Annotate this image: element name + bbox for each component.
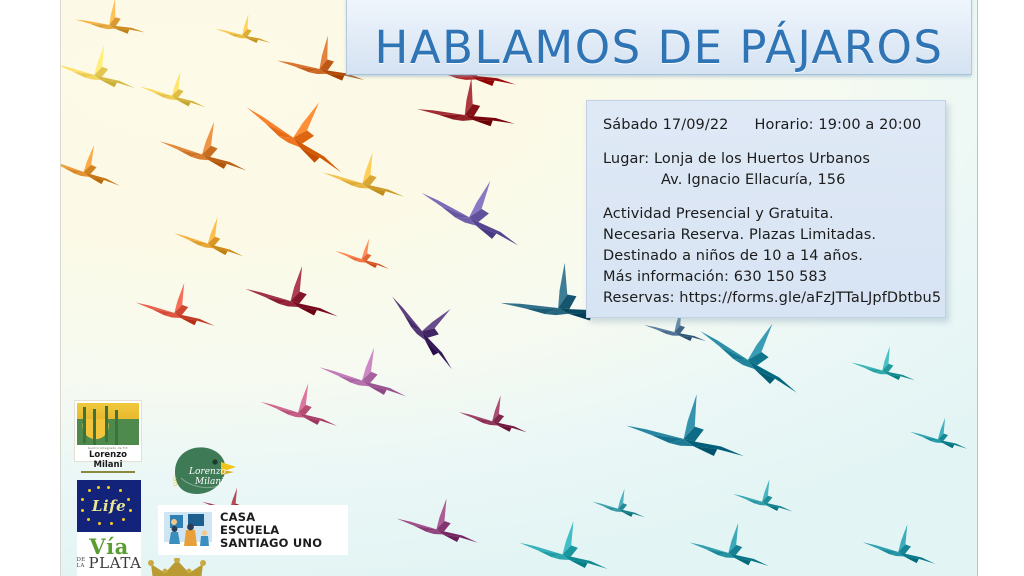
- bird-facet: [288, 138, 346, 173]
- bird-7: [158, 119, 246, 176]
- bird-facet: [413, 331, 461, 369]
- event-place: Lugar: Lonja de los Huertos Urbanos: [603, 149, 929, 170]
- bird-facet: [263, 124, 294, 140]
- bird-17: [375, 282, 476, 369]
- casa-line-2: ESCUELA: [220, 524, 322, 537]
- bird-16: [134, 280, 215, 334]
- bird-0: [73, 0, 146, 46]
- logo-lorenzo-milani-frame: Centro Integrado de F.P. Lorenzo Milani: [74, 400, 142, 462]
- bird-1: [214, 11, 271, 50]
- bird-facet: [440, 207, 470, 220]
- svg-text:Lorenzo: Lorenzo: [188, 467, 227, 477]
- de-la-text: DE LA: [76, 557, 85, 571]
- bird-facet: [500, 288, 558, 323]
- bird-facet: [242, 107, 297, 137]
- bird-facet: [526, 300, 559, 319]
- bird-20: [458, 393, 528, 439]
- spacer: [603, 191, 929, 204]
- event-info-box: Sábado 17/09/22 Horario: 19:00 a 20:00 L…: [586, 100, 946, 318]
- title-banner: HABLAMOS DE PÁJAROS: [346, 0, 972, 75]
- bird-2: [61, 42, 135, 96]
- bird-facet: [744, 360, 801, 393]
- event-detail-free: Actividad Presencial y Gratuita.: [603, 204, 929, 225]
- bird-3: [139, 69, 206, 113]
- bird-10: [413, 70, 515, 145]
- info-date-time-row: Sábado 17/09/22 Horario: 19:00 a 20:00: [603, 115, 929, 136]
- bird-19: [259, 381, 337, 432]
- event-time: Horario: 19:00 a 20:00: [755, 115, 922, 136]
- bird-facet: [384, 297, 429, 331]
- event-detail-reservation-link[interactable]: Reservas: https://forms.gle/aFzJTTaLJpfD…: [603, 288, 929, 309]
- eu-flag-box: Life: [77, 480, 141, 532]
- casa-line-1: CASA: [220, 511, 322, 524]
- event-address: Av. Ignacio Ellacuría, 156: [603, 170, 929, 191]
- bird-facet: [438, 108, 465, 123]
- logo-name: Lorenzo Milani: [77, 450, 139, 470]
- bird-8: [61, 144, 120, 190]
- bird-30: [688, 520, 769, 574]
- bird-facet: [75, 13, 109, 32]
- lorenzo-milani-artwork-icon: [77, 403, 139, 445]
- logo-underline: [81, 471, 135, 473]
- event-detail-phone: Más información: 630 150 583: [603, 267, 929, 288]
- logo-crown: [147, 558, 233, 576]
- bird-28: [591, 487, 645, 523]
- casa-escuela-people-icon: [162, 510, 214, 550]
- bird-23: [692, 311, 808, 392]
- event-detail-reservation: Necesaria Reserva. Plazas Limitadas.: [603, 225, 929, 246]
- crown-icon: [147, 558, 233, 576]
- bird-9: [237, 88, 354, 173]
- bird-facet: [400, 314, 426, 333]
- poster-canvas: HABLAMOS DE PÁJAROS Sábado 17/09/22 Hora…: [60, 0, 978, 576]
- spacer: [603, 136, 929, 149]
- bird-facet: [697, 331, 752, 360]
- logo-casa-escuela-santiago-uno: CASA ESCUELA SANTIAGO UNO: [158, 505, 348, 555]
- bird-12: [173, 216, 244, 262]
- bird-facet: [467, 217, 521, 245]
- bird-18: [318, 345, 406, 402]
- bird-29: [518, 518, 608, 576]
- bird-13: [417, 174, 525, 246]
- casa-escuela-text: CASA ESCUELA SANTIAGO UNO: [220, 511, 322, 550]
- bird-26: [909, 416, 967, 455]
- bird-facet: [420, 193, 472, 217]
- via-de-la-plata-wordmark: Vía DE LA PLATA: [77, 532, 141, 576]
- svg-text:Milani: Milani: [194, 477, 224, 487]
- event-detail-ages: Destinado a niños de 10 a 14 años.: [603, 246, 929, 267]
- bird-11: [321, 150, 404, 205]
- bird-24: [850, 344, 916, 388]
- page-title: HABLAMOS DE PÁJAROS: [375, 25, 944, 70]
- bird-15: [244, 263, 338, 326]
- bird-facet: [417, 98, 465, 126]
- bird-31: [861, 522, 935, 571]
- logo-lorenzo-milani-eagle: CIFP Lorenzo Milani: [165, 442, 237, 500]
- plata-row: DE LA PLATA: [76, 556, 141, 571]
- bird-14: [334, 237, 389, 273]
- eu-stars-icon: [77, 480, 141, 532]
- poster-slide: HABLAMOS DE PÁJAROS Sábado 17/09/22 Hora…: [0, 0, 1024, 576]
- svg-text:CIFP: CIFP: [173, 476, 179, 486]
- plata-text: PLATA: [88, 556, 141, 571]
- event-date: Sábado 17/09/22: [603, 115, 729, 136]
- bird-25: [623, 389, 744, 472]
- casa-line-3: SANTIAGO UNO: [220, 537, 322, 550]
- logo-life-via-de-la-plata: Life Vía DE LA PLATA: [77, 480, 141, 576]
- bird-27: [732, 477, 793, 517]
- eagle-head-icon: CIFP Lorenzo Milani: [165, 442, 237, 500]
- bird-33: [395, 496, 478, 551]
- bird-facet: [718, 347, 749, 362]
